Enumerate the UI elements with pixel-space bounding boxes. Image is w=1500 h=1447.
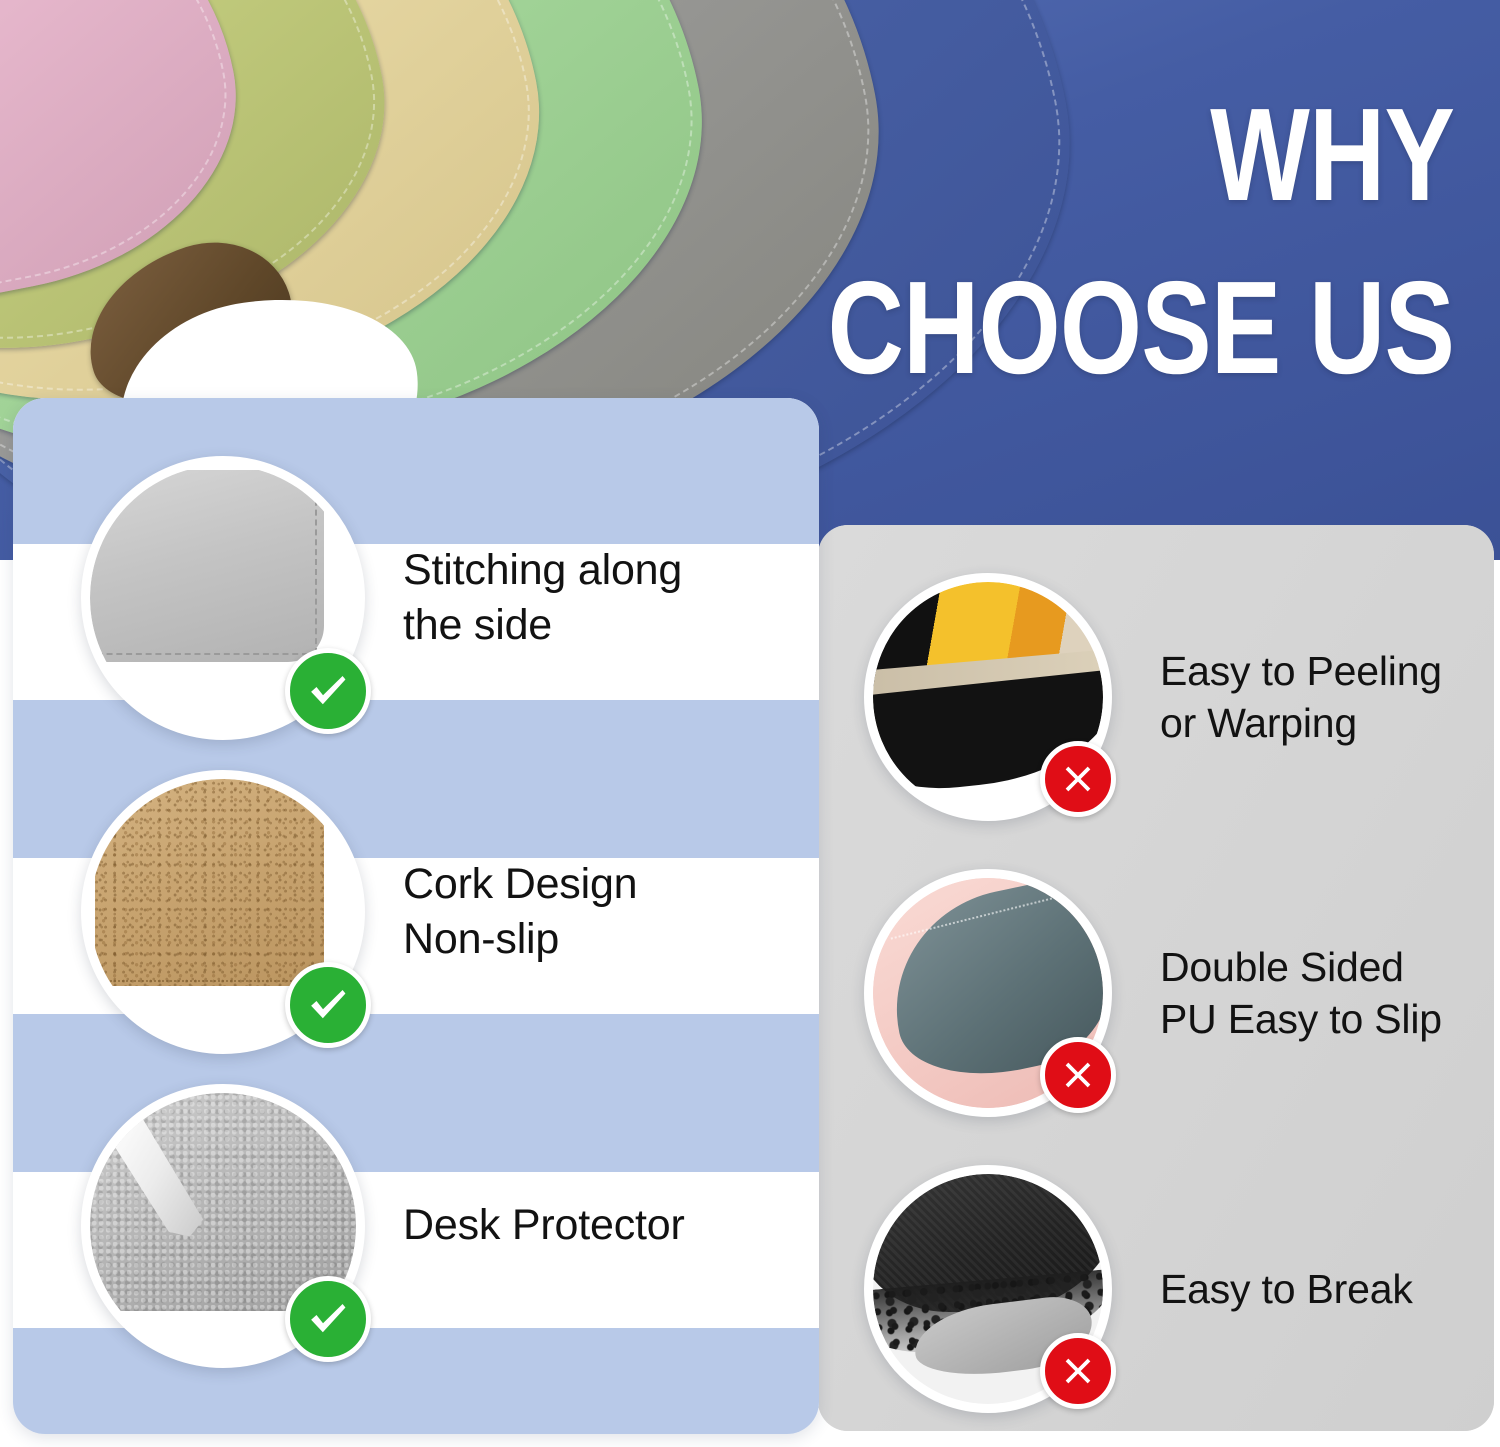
check-icon	[285, 962, 371, 1048]
check-icon	[285, 648, 371, 734]
cons-panel: Easy to Peeling or Warping	[818, 525, 1494, 1431]
cross-icon	[1040, 1037, 1116, 1113]
cons-item-peeling[interactable]: Easy to Peeling or Warping	[864, 573, 1442, 821]
cons-item-double-sided[interactable]: Double Sided PU Easy to Slip	[864, 869, 1442, 1117]
pros-item-cork[interactable]: Cork Design Non-slip	[81, 770, 637, 1054]
pros-item-label: Cork Design Non-slip	[403, 857, 637, 967]
pros-item-label: Stitching along the side	[403, 543, 682, 653]
pros-item-label: Desk Protector	[403, 1198, 685, 1253]
cross-icon	[1040, 1333, 1116, 1409]
cons-item-label: Double Sided PU Easy to Slip	[1160, 941, 1442, 1046]
pros-item-stitching[interactable]: Stitching along the side	[81, 456, 682, 740]
cork-texture-art	[95, 779, 324, 986]
thumb-wrap	[864, 1165, 1112, 1413]
page-title: WHY CHOOSE US	[671, 92, 1454, 391]
headline-line-2: CHOOSE US	[827, 265, 1454, 392]
check-icon	[285, 1276, 371, 1362]
thumb-wrap	[864, 573, 1112, 821]
pros-item-protector[interactable]: Desk Protector	[81, 1084, 685, 1368]
cons-item-break[interactable]: Easy to Break	[864, 1165, 1413, 1413]
cons-item-label: Easy to Peeling or Warping	[1160, 645, 1442, 750]
cross-icon	[1040, 741, 1116, 817]
pros-panel: Stitching along the side Cork Design Non…	[13, 398, 819, 1434]
stitched-corner-art	[90, 470, 324, 662]
headline-line-1: WHY	[827, 92, 1454, 219]
thumb-wrap	[81, 770, 365, 1054]
thumb-wrap	[81, 456, 365, 740]
thumb-wrap	[864, 869, 1112, 1117]
thumb-wrap	[81, 1084, 365, 1368]
why-choose-us-infographic: WHY CHOOSE US	[0, 0, 1500, 1447]
cons-item-label: Easy to Break	[1160, 1263, 1413, 1315]
